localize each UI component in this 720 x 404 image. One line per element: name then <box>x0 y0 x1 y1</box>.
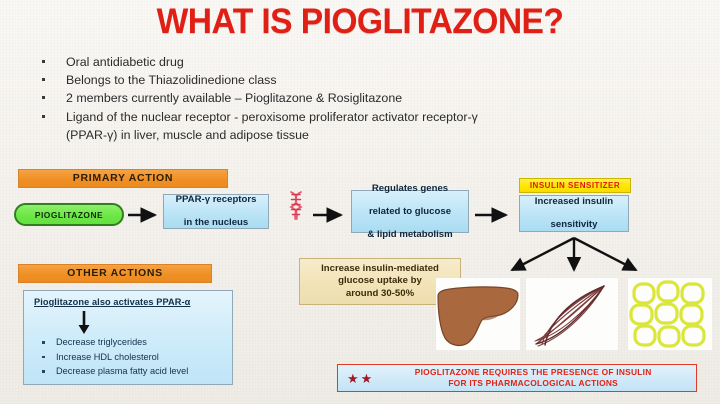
regulates-genes-node[interactable]: Regulates genes related to glucose & lip… <box>351 190 469 233</box>
list-item-continuation: (PPAR-γ) in liver, muscle and adipose ti… <box>38 126 638 144</box>
bullet-dot-icon <box>42 78 45 81</box>
primary-action-banner: PRIMARY ACTION <box>18 169 228 188</box>
other-actions-banner: OTHER ACTIONS <box>18 264 212 283</box>
bullet-dot-icon <box>42 115 45 118</box>
ppar-receptor-line1: PPAR-γ receptors <box>164 194 268 206</box>
list-item: 2 members currently available – Pioglita… <box>38 89 638 107</box>
glucose-uptake-line1: Increase insulin-mediated <box>321 263 439 274</box>
tissue-fan-arrows-icon <box>470 236 670 281</box>
increased-insulin-sensitivity-node[interactable]: Increased insulin sensitivity <box>519 195 629 232</box>
list-item: Increase HDL cholesterol <box>40 350 188 365</box>
glucose-uptake-line2: glucose uptake by <box>338 275 422 286</box>
regulates-genes-line3: & lipid metabolism <box>352 229 468 241</box>
list-item: Decrease plasma fatty acid level <box>40 364 188 379</box>
other-actions-panel: Pioglitazone also activates PPAR-α Decre… <box>23 290 233 385</box>
list-item-label: 2 members currently available – Pioglita… <box>66 91 402 105</box>
intro-bullet-list: Oral antidiabetic drug Belongs to the Th… <box>38 53 638 144</box>
list-item-label: Ligand of the nuclear receptor - peroxis… <box>66 110 478 124</box>
insulin-requirement-warning-banner: ★★ PIOGLITAZONE REQUIRES THE PRESENCE OF… <box>337 364 697 392</box>
flow-arrow-1-icon <box>126 207 164 223</box>
tissue-panel-liver <box>436 278 520 350</box>
warning-text: PIOGLITAZONE REQUIRES THE PRESENCE OF IN… <box>380 367 696 389</box>
bullet-dot-icon <box>42 370 45 373</box>
list-item-label: (PPAR-γ) in liver, muscle and adipose ti… <box>66 128 309 142</box>
glucose-uptake-line3: around 30-50% <box>346 288 414 299</box>
list-item: Ligand of the nuclear receptor - peroxis… <box>38 108 638 126</box>
page-title: WHAT IS PIOGLITAZONE? <box>14 2 705 42</box>
pioglitazone-label: PIOGLITAZONE <box>35 210 103 220</box>
adipose-cells-icon <box>628 278 712 350</box>
regulates-genes-line1: Regulates genes <box>352 183 468 195</box>
warning-line1: PIOGLITAZONE REQUIRES THE PRESENCE OF IN… <box>415 367 652 377</box>
ppar-receptor-line2: in the nucleus <box>164 217 268 229</box>
warning-line2: FOR ITS PHARMACOLOGICAL ACTIONS <box>448 378 618 388</box>
muscle-fiber-icon <box>526 278 618 350</box>
down-arrow-icon <box>76 311 92 335</box>
liver-icon <box>436 278 520 350</box>
list-item: Oral antidiabetic drug <box>38 53 638 71</box>
insulin-sensitivity-line2: sensitivity <box>520 219 628 231</box>
list-item-label: Oral antidiabetic drug <box>66 55 184 69</box>
list-item-label: Decrease plasma fatty acid level <box>56 366 188 376</box>
bullet-dot-icon <box>42 356 45 359</box>
tissue-panel-adipose <box>628 278 712 350</box>
pioglitazone-node[interactable]: PIOGLITAZONE <box>14 203 124 226</box>
list-item-label: Belongs to the Thiazolidinedione class <box>66 73 277 87</box>
ppar-gamma-receptors-node[interactable]: PPAR-γ receptors in the nucleus <box>163 194 269 229</box>
warning-stars-icon: ★★ <box>338 372 380 385</box>
other-actions-list: Decrease triglycerides Increase HDL chol… <box>40 335 188 379</box>
tissue-panel-muscle <box>526 278 618 350</box>
insulin-sensitizer-badge: INSULIN SENSITIZER <box>519 178 631 193</box>
bullet-dot-icon <box>42 60 45 63</box>
bullet-dot-icon <box>42 96 45 99</box>
bullet-dot-icon <box>42 341 45 344</box>
list-item: Belongs to the Thiazolidinedione class <box>38 71 638 89</box>
flow-arrow-2-icon <box>311 207 351 223</box>
insulin-sensitivity-line1: Increased insulin <box>520 196 628 208</box>
dna-helix-icon <box>286 190 306 220</box>
flow-arrow-3-icon <box>473 207 517 223</box>
other-actions-heading: Pioglitazone also activates PPAR-α <box>34 297 190 307</box>
list-item: Decrease triglycerides <box>40 335 188 350</box>
list-item-label: Decrease triglycerides <box>56 337 147 347</box>
regulates-genes-line2: related to glucose <box>352 206 468 218</box>
list-item-label: Increase HDL cholesterol <box>56 352 159 362</box>
slide-canvas: WHAT IS PIOGLITAZONE? Oral antidiabetic … <box>0 0 720 404</box>
